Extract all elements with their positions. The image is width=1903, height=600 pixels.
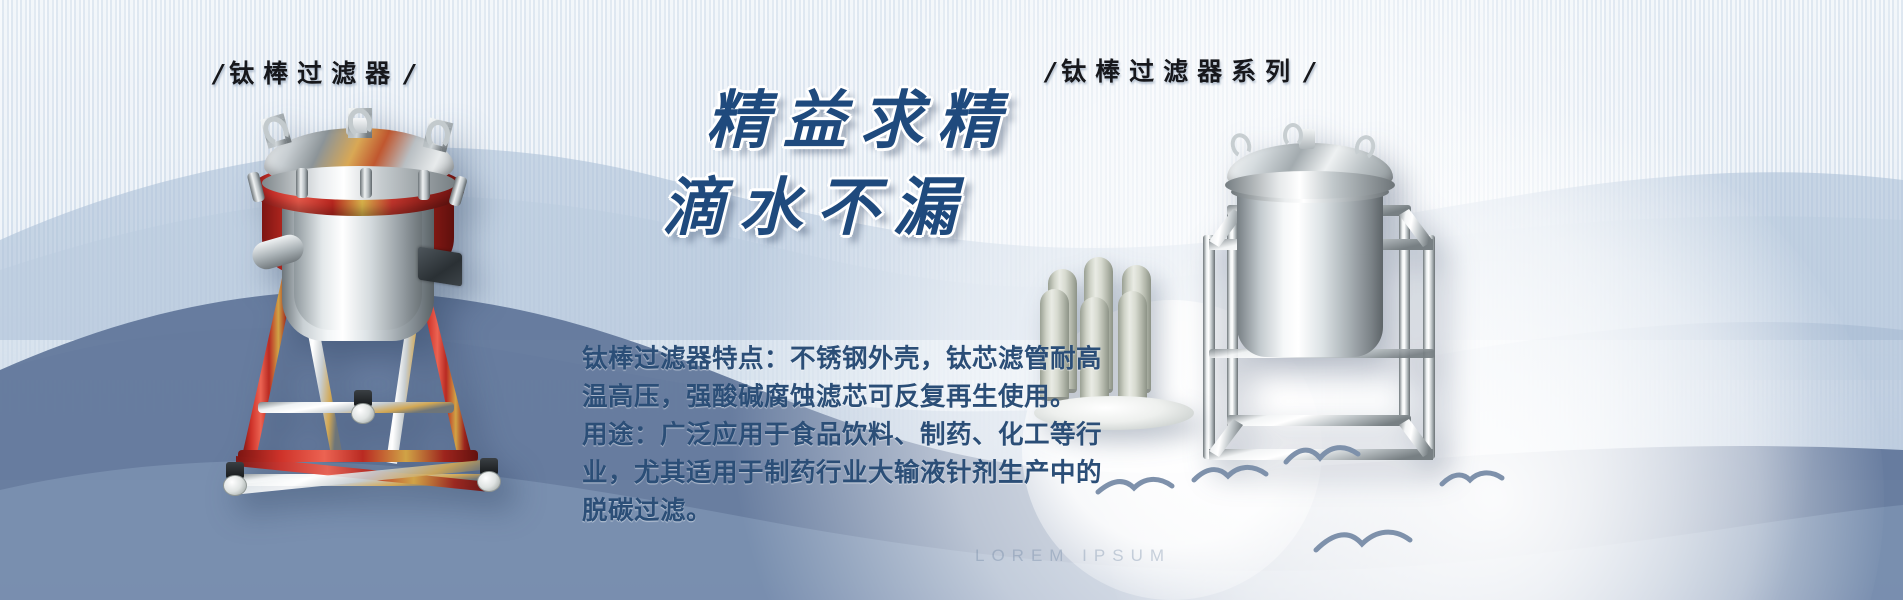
- left-vessel-clamp-3: [360, 168, 372, 198]
- headline-line-1: 精益求精: [580, 78, 1140, 165]
- description-line-2: 温高压，强酸碱腐蚀滤芯可反复再生使用。: [582, 378, 1222, 416]
- title-right-bar-end: /: [1299, 57, 1320, 86]
- title-left-text: 钛棒过滤器: [229, 59, 399, 88]
- description-line-3: 用途：广泛应用于食品饮料、制药、化工等行: [582, 416, 1222, 454]
- title-right-bar-start: /: [1040, 57, 1061, 86]
- left-vessel-lifting-eye-2: [348, 108, 372, 138]
- section-title-right: /钛棒过滤器系列/: [1040, 52, 1320, 88]
- right-vessel-body: [1237, 187, 1383, 357]
- left-vessel-clamp-4: [418, 170, 430, 200]
- description-line-4: 业，尤其适用于制药行业大输液针剂生产中的: [582, 454, 1222, 492]
- product-banner: /钛棒过滤器/ /钛棒过滤器系列/ 精益求精 滴水不漏 钛棒过滤器特点：不锈钢外…: [0, 0, 1903, 600]
- headline-line-2: 滴水不漏: [492, 165, 1140, 252]
- title-left-bar-end: /: [399, 59, 420, 88]
- left-vessel-clamp-2: [296, 168, 308, 198]
- product-image-left: [190, 110, 520, 500]
- product-description: 钛棒过滤器特点：不锈钢外壳，钛芯滤管耐高 温高压，强酸碱腐蚀滤芯可反复再生使用。…: [582, 340, 1222, 530]
- left-trolley-caster-3: [350, 390, 376, 424]
- title-left-bar-start: /: [208, 59, 229, 88]
- description-line-1: 钛棒过滤器特点：不锈钢外壳，钛芯滤管耐高: [582, 340, 1222, 378]
- left-vessel-nameplate: [418, 247, 462, 287]
- headline-block: 精益求精 滴水不漏: [580, 78, 1140, 252]
- right-vessel-lifting-eye-2: [1283, 123, 1303, 148]
- left-trolley-caster-1: [222, 462, 248, 496]
- right-vessel-lid-ring: [1225, 171, 1395, 199]
- left-trolley-caster-2: [476, 458, 502, 492]
- section-title-left: /钛棒过滤器/: [208, 54, 420, 90]
- watermark-text: LOREM IPSUM: [975, 546, 1171, 566]
- title-right-text: 钛棒过滤器系列: [1061, 57, 1299, 86]
- description-line-5: 脱碳过滤。: [582, 492, 1222, 530]
